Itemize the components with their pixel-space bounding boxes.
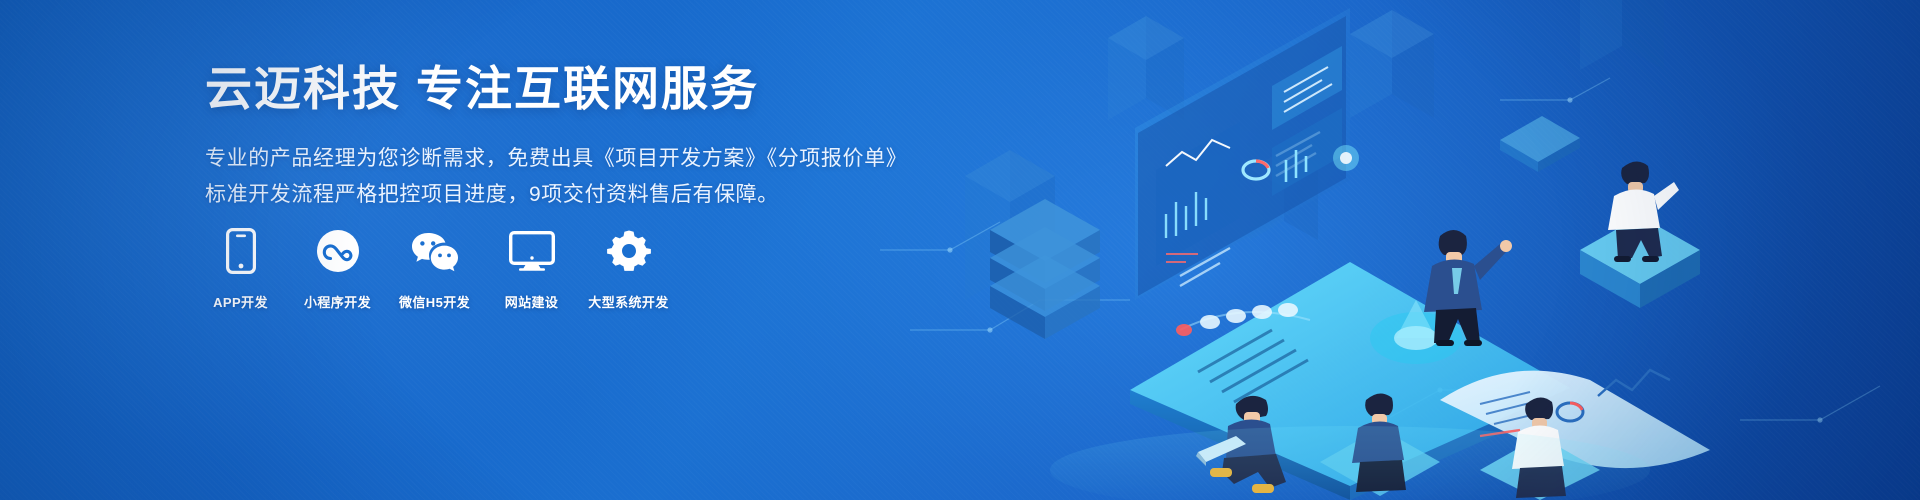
service-icon-list: APP开发 小程序开发 微信 <box>205 228 664 311</box>
service-label: APP开发 <box>213 292 268 311</box>
banner-copy: 云迈科技 专注互联网服务 专业的产品经理为您诊断需求，免费出具《项目开发方案》《… <box>205 60 925 213</box>
page-title: 云迈科技 专注互联网服务 <box>205 60 925 119</box>
service-item-app[interactable]: APP开发 <box>205 228 276 311</box>
subtitle-line-2: 标准开发流程严格把控项目进度，9项交付资料售后有保障。 <box>205 177 925 213</box>
service-label: 网站建设 <box>505 292 559 311</box>
service-item-website[interactable]: 网站建设 <box>496 228 567 311</box>
service-item-mini-program[interactable]: 小程序开发 <box>302 228 373 311</box>
gear-icon <box>607 228 651 274</box>
hero-illustration <box>880 0 1920 500</box>
service-label: 大型系统开发 <box>588 292 668 311</box>
service-item-large-system[interactable]: 大型系统开发 <box>593 228 664 311</box>
promo-banner: 云迈科技 专注互联网服务 专业的产品经理为您诊断需求，免费出具《项目开发方案》《… <box>0 0 1920 500</box>
service-item-wechat-h5[interactable]: 微信H5开发 <box>399 228 470 311</box>
monitor-icon <box>509 228 555 274</box>
service-label: 小程序开发 <box>304 292 371 311</box>
mini-program-icon <box>316 228 360 274</box>
wechat-icon <box>410 228 460 274</box>
subtitle-line-1: 专业的产品经理为您诊断需求，免费出具《项目开发方案》《分项报价单》 <box>205 141 925 177</box>
service-label: 微信H5开发 <box>399 292 470 311</box>
mobile-phone-icon <box>226 228 256 274</box>
